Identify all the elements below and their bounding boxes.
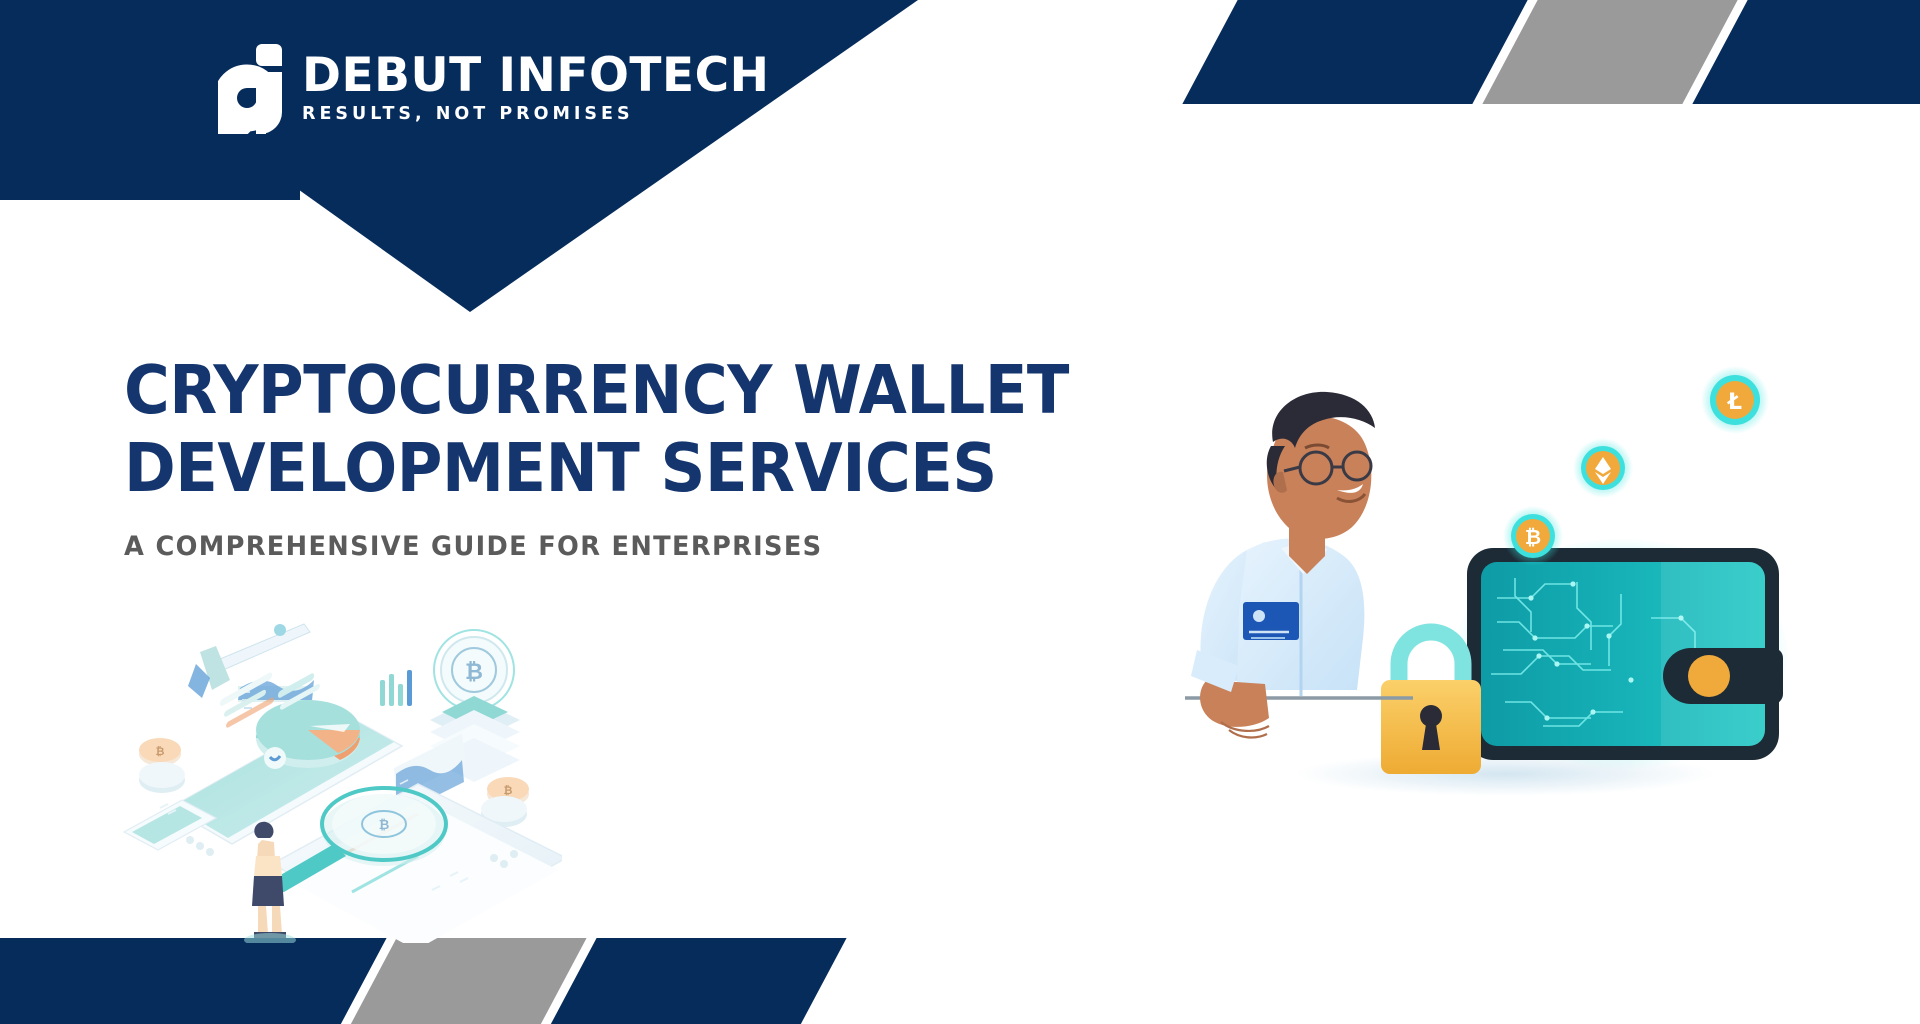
- svg-text:₿: ₿: [379, 818, 390, 833]
- decor-top-right: [1210, 0, 1920, 104]
- page-subtitle: A COMPREHENSIVE GUIDE FOR ENTERPRISES: [124, 531, 1198, 562]
- slant-bar-navy-2: [543, 938, 846, 1024]
- page-title: CRYPTOCURRENCY WALLET DEVELOPMENT SERVIC…: [124, 352, 1175, 507]
- brand-tagline: RESULTS, NOT PROMISES: [302, 105, 769, 124]
- dj-monogram-icon: [218, 42, 284, 134]
- banner-canvas: DEBUT INFOTECH RESULTS, NOT PROMISES CRY…: [0, 0, 1920, 1024]
- slant-bar-navy-1: [0, 938, 387, 1024]
- digital-wallet-icon: [1467, 548, 1783, 760]
- padlock-icon: [1381, 632, 1481, 774]
- svg-text:₿: ₿: [504, 784, 513, 797]
- headline-line-1: CRYPTOCURRENCY WALLET: [124, 351, 1069, 429]
- headline-line-2: DEVELOPMENT SERVICES: [124, 429, 997, 507]
- bitcoin-coin-stack: ₿: [139, 738, 185, 793]
- svg-text:Ł: Ł: [1727, 390, 1742, 415]
- brand-name: DEBUT INFOTECH: [302, 52, 769, 100]
- svg-text:₿: ₿: [465, 660, 483, 685]
- slant-bar-gray: [343, 938, 586, 1024]
- brand-logo[interactable]: DEBUT INFOTECH RESULTS, NOT PROMISES: [218, 42, 769, 134]
- brand-logo-text: DEBUT INFOTECH RESULTS, NOT PROMISES: [302, 52, 769, 124]
- bar-chart: [380, 670, 412, 706]
- ethereum-coin-icon: [1573, 438, 1633, 498]
- crypto-wallet-illustration: ₿ Ł: [1185, 350, 1825, 810]
- decor-bottom-left: [0, 938, 740, 1024]
- litecoin-coin-icon: Ł: [1701, 366, 1769, 434]
- crypto-analytics-isometric-illustration: ₿: [112, 608, 562, 943]
- svg-text:₿: ₿: [156, 745, 165, 758]
- bitcoin-coin-icon: ₿: [1503, 506, 1563, 566]
- developer-character: [1185, 392, 1413, 738]
- svg-text:₿: ₿: [1525, 525, 1541, 549]
- headline-block: CRYPTOCURRENCY WALLET DEVELOPMENT SERVIC…: [124, 352, 1254, 562]
- slant-bar-navy-1: [1182, 0, 1527, 104]
